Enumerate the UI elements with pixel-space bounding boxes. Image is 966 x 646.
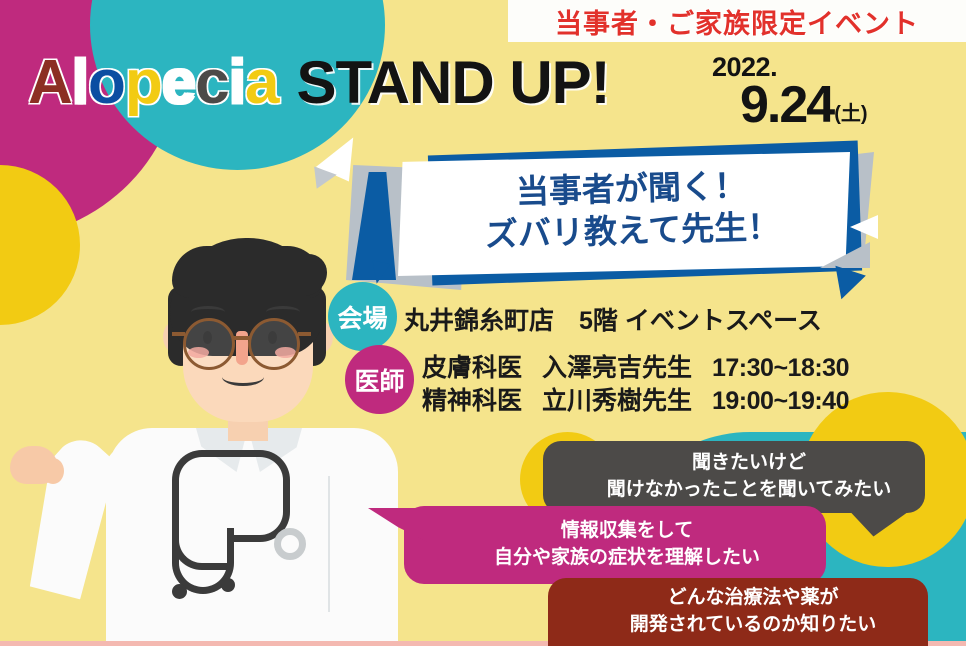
doctor-name: 立川秀樹先生 [542, 385, 712, 418]
doctor-list: 皮膚科医 入澤亮吉先生 17:30~18:30 精神科医 立川秀樹先生 19:0… [422, 352, 849, 418]
event-poster: 当事者・ご家族限定イベント Alopecia STAND UP! 2022. 9… [0, 0, 966, 646]
brand-letter-6: i [229, 48, 245, 117]
doctor-eyebrow-left [191, 306, 225, 318]
event-restriction-banner: 当事者・ご家族限定イベント [508, 0, 966, 42]
speech-bubble-brown-line1: どんな治療法や薬が [667, 585, 838, 612]
event-date-main-row: 9.24 (土) [740, 82, 868, 130]
event-date: 2022. 9.24 (土) [712, 54, 868, 130]
glasses-icon-arm-right [298, 332, 311, 336]
glasses-icon-bridge [233, 336, 250, 340]
brand-letter-3: p [125, 48, 162, 117]
stethoscope-icon-right-tube [230, 450, 290, 542]
speech-bubble-brown: どんな治療法や薬が 開発されているのか知りたい [548, 578, 928, 646]
doctor-time: 17:30~18:30 [712, 352, 849, 385]
doctor-specialty: 精神科医 [422, 385, 542, 418]
venue-badge: 会場 [328, 282, 397, 351]
doctor-row: 精神科医 立川秀樹先生 19:00~19:40 [422, 385, 849, 418]
doctor-eyebrow-right [266, 306, 300, 318]
speech-bubble-dark: 聞きたいけど 聞けなかったことを聞いてみたい [543, 441, 925, 513]
brand-title-alopecia: Alopecia [28, 52, 278, 114]
doctor-raised-hand [10, 446, 58, 484]
doctor-time: 19:00~19:40 [712, 385, 849, 418]
glasses-icon-left-lens [183, 318, 235, 370]
doctor-row: 皮膚科医 入澤亮吉先生 17:30~18:30 [422, 352, 849, 385]
speech-bubble-dark-line2: 聞けなかったことを聞いてみたい [607, 477, 891, 504]
decor-triangle-white-right [850, 215, 878, 239]
headline: Alopecia STAND UP! [28, 52, 610, 114]
speech-bubble-magenta-line2: 自分や家族の症状を理解したい [494, 545, 760, 572]
brand-title-standup: STAND UP! [296, 53, 609, 113]
venue-text: 丸井錦糸町店 5階 イベントスペース [404, 301, 822, 337]
brand-letter-0: A [28, 48, 72, 117]
decor-triangle-gray-right [820, 242, 870, 268]
speech-bubble-brown-line2: 開発されているのか知りたい [630, 612, 876, 639]
doctor-mouth [222, 368, 264, 386]
speech-bubble-dark-line1: 聞きたいけど [692, 450, 806, 477]
glasses-icon-right-lens [248, 318, 300, 370]
event-date-weekday: (土) [834, 97, 867, 126]
main-title: 当事者が聞く！ ズバリ教えて先生！ [431, 162, 833, 256]
decor-triangle-blue-right [826, 266, 866, 304]
brand-letter-5: c [195, 48, 228, 117]
speech-bubble-magenta: 情報収集をして 自分や家族の症状を理解したい [404, 506, 826, 584]
doctor-badge: 医師 [345, 345, 414, 414]
doctor-specialty: 皮膚科医 [422, 352, 542, 385]
doctor-fringe-part [243, 254, 327, 296]
stethoscope-icon-tip-left [172, 584, 187, 599]
stethoscope-icon-bell [274, 528, 306, 560]
speech-bubble-magenta-line1: 情報収集をして [561, 518, 693, 545]
event-date-day: 9.24 [740, 82, 833, 130]
brand-letter-7: a [245, 48, 278, 117]
brand-letter-2: o [88, 48, 125, 117]
brand-letter-4: e [162, 48, 195, 117]
doctor-name: 入澤亮吉先生 [542, 352, 712, 385]
glasses-icon-arm-left [172, 332, 185, 336]
stethoscope-icon-tip-right [221, 578, 235, 592]
brand-letter-1: l [72, 48, 88, 117]
event-restriction-banner-text: 当事者・ご家族限定イベント [555, 2, 919, 41]
